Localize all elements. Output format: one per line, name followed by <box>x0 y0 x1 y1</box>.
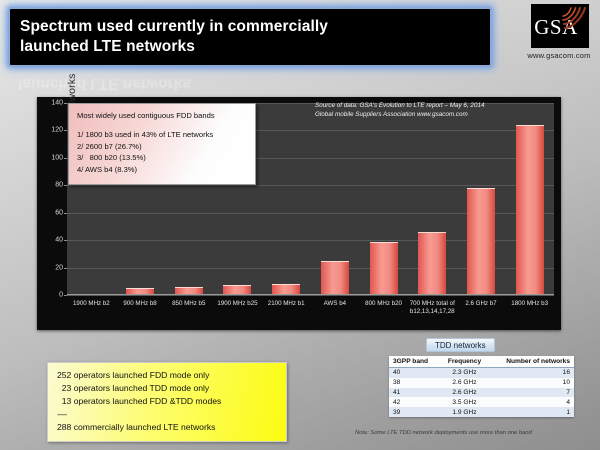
table-row: 391.9 GHz1 <box>389 407 574 417</box>
cell-frequency: 2.6 GHz <box>440 378 489 388</box>
table-row: 382.6 GHz10 <box>389 378 574 388</box>
callout-item-2: 2/ 2600 b7 (26.7%) <box>77 141 247 153</box>
column-header-band: 3GPP band <box>389 356 440 368</box>
slide-title-line2: launched LTE networks <box>20 38 195 55</box>
source-note-line2: Global mobile Suppliers Association www.… <box>315 110 555 119</box>
operators-summary-box: 252 operators launched FDD mode only 23 … <box>47 362 287 442</box>
table-row: 412.6 GHz7 <box>389 388 574 398</box>
table-row: 423.5 GHz4 <box>389 397 574 407</box>
bar-slot: AWS b4 <box>311 103 360 295</box>
y-axis-tick-label: 100 <box>51 154 63 161</box>
bar <box>467 188 495 295</box>
bar <box>516 125 544 295</box>
bar-slot: 700 MHz total of b12,13,14,17,28 <box>408 103 457 295</box>
bar <box>418 232 446 295</box>
tdd-footnote: Note: Some LTE TDD network deployments u… <box>355 430 595 436</box>
cell-band: 39 <box>389 407 440 417</box>
summary-line-3: 13 operators launched FDD &TDD modes <box>57 395 277 408</box>
callout-heading: Most widely used contiguous FDD bands <box>77 110 247 122</box>
signal-arcs-icon <box>562 7 588 31</box>
bar-slot: 800 MHz b20 <box>359 103 408 295</box>
column-header-frequency: Frequency <box>440 356 489 368</box>
x-axis-tick-label: 1800 MHz b3 <box>497 300 563 308</box>
y-axis-tick-label: 140 <box>51 100 63 107</box>
y-axis-tick-label: 20 <box>55 264 63 271</box>
bar <box>321 261 349 295</box>
callout-item-1: 1/ 1800 b3 used in 43% of LTE networks <box>77 129 247 141</box>
cell-networks: 1 <box>489 407 574 417</box>
y-axis-tick-label: 40 <box>55 237 63 244</box>
summary-line-1: 252 operators launched FDD mode only <box>57 369 277 382</box>
callout-item-3: 3/ 800 b20 (13.5%) <box>77 152 247 164</box>
cell-frequency: 1.9 GHz <box>440 407 489 417</box>
x-axis-line <box>67 294 554 295</box>
gsa-logo-url: www.gsacom.com <box>520 51 598 60</box>
y-axis-tick-label: 60 <box>55 209 63 216</box>
bar <box>370 242 398 295</box>
slide-title-bar: Spectrum used currently in commercially … <box>8 7 492 67</box>
y-axis-tick-mark <box>64 295 67 296</box>
table-body: 402.3 GHz16382.6 GHz10412.6 GHz7423.5 GH… <box>389 368 574 417</box>
gridline <box>67 295 554 296</box>
slide-title-line1: Spectrum used currently in commercially <box>20 18 328 35</box>
cell-networks: 7 <box>489 388 574 398</box>
table-header-row: 3GPP band Frequency Number of networks <box>389 356 574 368</box>
bar-slot: 1800 MHz b3 <box>505 103 554 295</box>
slide-title: Spectrum used currently in commercially … <box>10 17 338 57</box>
summary-line-2: 23 operators launched TDD mode only <box>57 382 277 395</box>
source-note-line1: Source of data: GSA's Evolution to LTE r… <box>315 101 555 110</box>
bar-slot: 2.6 GHz b7 <box>457 103 506 295</box>
summary-total: 288 commercially launched LTE networks <box>57 421 277 434</box>
cell-band: 40 <box>389 368 440 378</box>
summary-divider: ----- <box>57 408 277 421</box>
y-axis-tick-label: 80 <box>55 182 63 189</box>
cell-frequency: 2.3 GHz <box>440 368 489 378</box>
cell-band: 38 <box>389 378 440 388</box>
cell-networks: 16 <box>489 368 574 378</box>
y-axis-tick-label: 120 <box>51 127 63 134</box>
cell-networks: 4 <box>489 397 574 407</box>
callout-item-4: 4/ AWS b4 (8.3%) <box>77 164 247 176</box>
cell-band: 42 <box>389 397 440 407</box>
cell-frequency: 3.5 GHz <box>440 397 489 407</box>
slide-title-reflection: launched LTE networks <box>18 66 488 92</box>
gsa-logo: GSA <box>531 4 589 48</box>
source-of-data-note: Source of data: GSA's Evolution to LTE r… <box>315 101 555 119</box>
bar-slot: 2100 MHz b1 <box>262 103 311 295</box>
column-header-networks: Number of networks <box>489 356 574 368</box>
cell-frequency: 2.6 GHz <box>440 388 489 398</box>
cell-networks: 10 <box>489 378 574 388</box>
y-axis-tick-label: 0 <box>59 292 63 299</box>
cell-band: 41 <box>389 388 440 398</box>
table-row: 402.3 GHz16 <box>389 368 574 378</box>
tdd-networks-badge: TDD networks <box>426 338 495 352</box>
fdd-bands-callout: Most widely used contiguous FDD bands 1/… <box>68 103 256 185</box>
tdd-networks-table: 3GPP band Frequency Number of networks 4… <box>389 356 574 417</box>
